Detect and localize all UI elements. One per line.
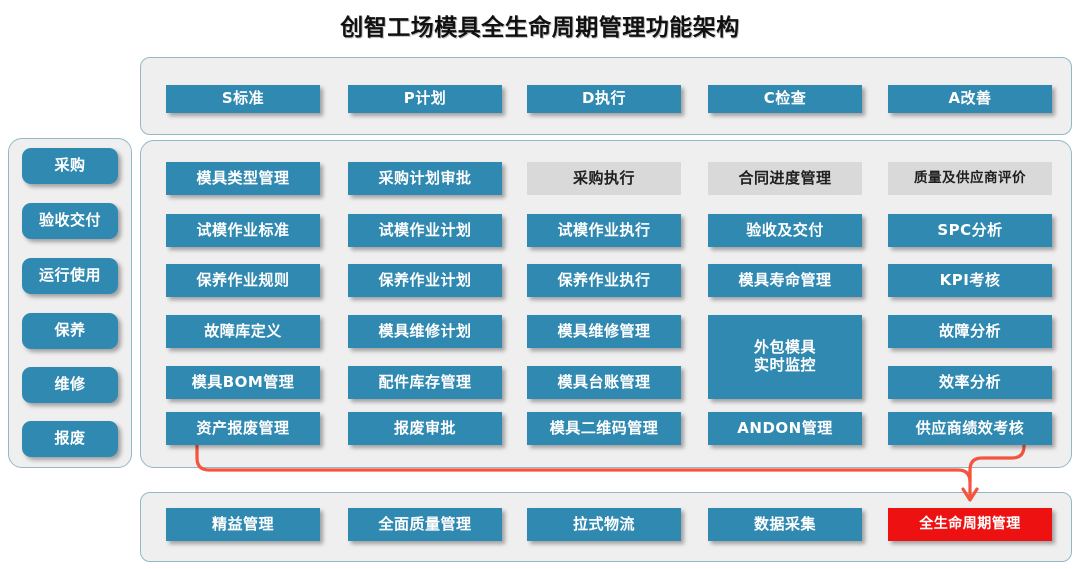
matrix-cell-r1-c3[interactable]: 采购执行 [527, 162, 681, 195]
matrix-cell-r3-c2[interactable]: 保养作业计划 [348, 264, 502, 297]
matrix-cell-r3-c1[interactable]: 保养作业规则 [166, 264, 320, 297]
foundation-chip-2[interactable]: 全面质量管理 [348, 508, 502, 541]
matrix-cell-r1-c4[interactable]: 合同进度管理 [708, 162, 862, 195]
matrix-cell-r6-c4[interactable]: ANDON管理 [708, 412, 862, 445]
matrix-cell-r1-c1[interactable]: 模具类型管理 [166, 162, 320, 195]
foundation-chip-3[interactable]: 拉式物流 [527, 508, 681, 541]
pdca-chip-5[interactable]: A改善 [888, 85, 1052, 113]
matrix-cell-r3-c5[interactable]: KPI考核 [888, 264, 1052, 297]
phase-chip-6[interactable]: 报废 [22, 421, 118, 457]
page-title: 创智工场模具全生命周期管理功能架构 [0, 8, 1080, 42]
foundation-chip-5[interactable]: 全生命周期管理 [888, 508, 1052, 541]
matrix-cell-r5-c1[interactable]: 模具BOM管理 [166, 366, 320, 399]
matrix-cell-r1-c5[interactable]: 质量及供应商评价 [888, 162, 1052, 195]
matrix-cell-r2-c2[interactable]: 试模作业计划 [348, 214, 502, 247]
pdca-chip-2[interactable]: P计划 [348, 85, 502, 113]
matrix-cell-r6-c2[interactable]: 报废审批 [348, 412, 502, 445]
phase-chip-4[interactable]: 保养 [22, 313, 118, 349]
matrix-cell-r6-c1[interactable]: 资产报废管理 [166, 412, 320, 445]
phase-chip-3[interactable]: 运行使用 [22, 258, 118, 294]
matrix-cell-r4-c1[interactable]: 故障库定义 [166, 315, 320, 348]
phase-chip-5[interactable]: 维修 [22, 367, 118, 403]
matrix-cell-r4-c2[interactable]: 模具维修计划 [348, 315, 502, 348]
matrix-cell-r4-c3[interactable]: 模具维修管理 [527, 315, 681, 348]
pdca-chip-4[interactable]: C检查 [708, 85, 862, 113]
matrix-cell-r2-c3[interactable]: 试模作业执行 [527, 214, 681, 247]
matrix-cell-r6-c3[interactable]: 模具二维码管理 [527, 412, 681, 445]
matrix-cell-r3-c4[interactable]: 模具寿命管理 [708, 264, 862, 297]
matrix-cell-r6-c5[interactable]: 供应商绩效考核 [888, 412, 1052, 445]
pdca-chip-1[interactable]: S标准 [166, 85, 320, 113]
matrix-cell-r5-c5[interactable]: 效率分析 [888, 366, 1052, 399]
foundation-chip-1[interactable]: 精益管理 [166, 508, 320, 541]
matrix-cell-r2-c5[interactable]: SPC分析 [888, 214, 1052, 247]
matrix-cell-r3-c3[interactable]: 保养作业执行 [527, 264, 681, 297]
matrix-cell-r2-c1[interactable]: 试模作业标准 [166, 214, 320, 247]
phase-chip-1[interactable]: 采购 [22, 148, 118, 184]
lifecycle-phase-panel [8, 138, 132, 468]
foundation-chip-4[interactable]: 数据采集 [708, 508, 862, 541]
matrix-cell-r4-c4[interactable]: 外包模具 实时监控 [708, 315, 862, 399]
matrix-cell-r5-c2[interactable]: 配件库存管理 [348, 366, 502, 399]
matrix-cell-r1-c2[interactable]: 采购计划审批 [348, 162, 502, 195]
matrix-cell-r4-c5[interactable]: 故障分析 [888, 315, 1052, 348]
pdca-chip-3[interactable]: D执行 [527, 85, 681, 113]
phase-chip-2[interactable]: 验收交付 [22, 203, 118, 239]
matrix-cell-r5-c3[interactable]: 模具台账管理 [527, 366, 681, 399]
matrix-cell-r2-c4[interactable]: 验收及交付 [708, 214, 862, 247]
